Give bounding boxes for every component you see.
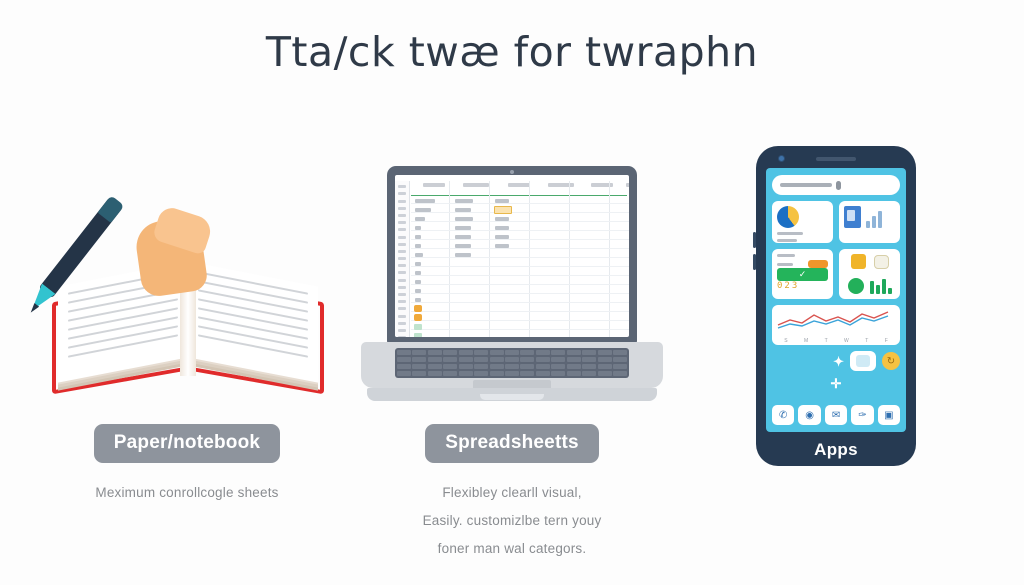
- dock-briefcase-icon[interactable]: ▣: [878, 405, 900, 425]
- card-budget-status[interactable]: ✓ 023: [772, 249, 833, 299]
- phone-screen: ✓ 023: [766, 168, 906, 432]
- dock-mail-icon[interactable]: ✉: [825, 405, 847, 425]
- card-quick-action[interactable]: [850, 351, 876, 371]
- earpiece-speaker: [816, 157, 856, 161]
- spreadsheet-header-row: [411, 181, 627, 196]
- add-icon[interactable]: ✦: [833, 355, 844, 368]
- card-text-line: [777, 254, 795, 257]
- card-text-line: [777, 232, 803, 235]
- card-row-middle: ✓ 023: [772, 249, 900, 299]
- chat-bubble-icon: [874, 255, 889, 269]
- label-badge-spreadsheets: Spreadsheetts: [425, 424, 599, 463]
- coin-icon: ↻: [882, 352, 900, 370]
- caption-spreadsheets: Flexibley clearll visual, Easily. custom…: [347, 479, 677, 563]
- volume-down-button[interactable]: [753, 254, 756, 270]
- caption-line: Flexibley clearll visual,: [347, 479, 677, 507]
- ruled-lines-right: [198, 271, 308, 372]
- laptop-graphic: [361, 166, 663, 424]
- green-bar-chart-icon: [870, 274, 892, 294]
- book-graphic: [52, 198, 324, 388]
- caption-line: foner man wal categors.: [347, 535, 677, 563]
- card-trend-linechart[interactable]: S M T W T F: [772, 305, 900, 345]
- card-text-line: [777, 239, 797, 242]
- document-icon: [844, 206, 861, 228]
- pie-chart-icon: [777, 206, 799, 228]
- webcam-icon: [510, 170, 514, 174]
- column-spreadsheets: Spreadsheetts Flexibley clearll visual, …: [347, 120, 677, 560]
- line-chart-icon: [776, 309, 896, 331]
- axis-tick: W: [844, 338, 849, 344]
- laptop-keyboard: [395, 348, 629, 378]
- column-paper-notebook: Paper/notebook Meximum conrollcogle shee…: [22, 120, 352, 560]
- card-categories[interactable]: [839, 249, 900, 299]
- axis-tick: T: [825, 338, 828, 344]
- badge-wrap-spreadsheets: Spreadsheetts: [347, 424, 677, 463]
- page-title: Tta/ck twæ for twraphn: [0, 28, 1024, 76]
- label-badge-apps: Apps: [756, 440, 916, 460]
- card-row-top: [772, 201, 900, 243]
- bar-chart-icon: [866, 208, 882, 228]
- volume-up-button[interactable]: [753, 232, 756, 248]
- axis-tick: T: [865, 338, 868, 344]
- axis-tick: M: [804, 338, 808, 344]
- spreadsheet-graphic: [395, 175, 629, 337]
- app-dock: ✆ ◉ ✉ ✑ ▣: [772, 405, 900, 425]
- category-icon-row: [844, 254, 895, 269]
- counter-digits: 023: [777, 281, 828, 291]
- laptop-base-notch: [480, 394, 544, 400]
- spreadsheet-row-headers: [395, 181, 410, 337]
- column-apps: ✓ 023: [672, 120, 1002, 560]
- infographic-page: Tta/ck twæ for twraphn: [0, 0, 1024, 585]
- dock-phone-icon[interactable]: ✆: [772, 405, 794, 425]
- card-spending-pie[interactable]: [772, 201, 833, 243]
- plus-decoration-icon: ✛: [772, 377, 900, 390]
- illustration-laptop: [347, 120, 677, 420]
- label-badge-paper-notebook: Paper/notebook: [94, 424, 280, 463]
- laptop-screen: [395, 175, 629, 337]
- axis-tick: F: [885, 338, 888, 344]
- microphone-icon[interactable]: [836, 181, 841, 190]
- dock-wrench-icon[interactable]: ✑: [851, 405, 873, 425]
- card-text-line: [777, 263, 793, 266]
- laptop-lid: [387, 166, 637, 344]
- axis-tick: S: [784, 338, 787, 344]
- status-pill-orange: [808, 260, 828, 268]
- badge-wrap-paper: Paper/notebook: [22, 424, 352, 463]
- illustration-smartphone: ✓ 023: [672, 120, 1002, 420]
- front-camera-icon: [778, 155, 785, 162]
- caption-paper-notebook: Meximum conrollcogle sheets: [22, 479, 352, 507]
- card-reports-document[interactable]: [839, 201, 900, 243]
- caption-line: Meximum conrollcogle sheets: [22, 479, 352, 507]
- star-icon: [851, 254, 866, 269]
- illustration-open-book: [22, 120, 352, 420]
- dock-globe-icon[interactable]: ◉: [798, 405, 820, 425]
- search-input[interactable]: [772, 175, 900, 195]
- check-circle-icon: [848, 278, 864, 294]
- phone-graphic: ✓ 023: [756, 146, 916, 466]
- caption-line: Easily. customizlbe tern youy: [347, 507, 677, 535]
- check-status-bar: ✓: [777, 268, 828, 281]
- pen-cap: [97, 195, 124, 223]
- search-placeholder-text: [780, 183, 832, 187]
